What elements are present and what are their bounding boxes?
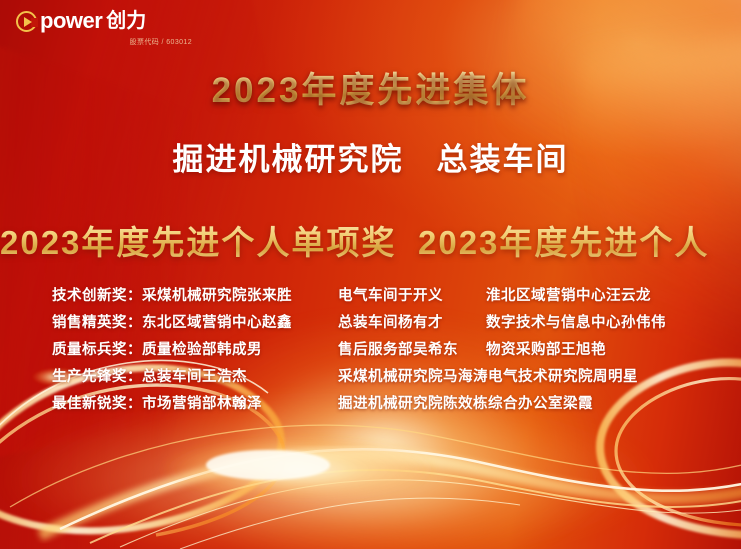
- list-item: 综合办公室梁霞: [488, 391, 741, 418]
- list-item: 采煤机械研究院马海涛: [338, 364, 488, 391]
- list-item: 总装车间杨有才: [338, 310, 486, 337]
- table-row: 电气车间于开义 淮北区域营销中心汪云龙: [338, 283, 741, 310]
- collective-winners: 掘进机械研究院 总装车间: [0, 134, 741, 179]
- page-title: 2023年度先进集体: [0, 62, 741, 113]
- table-row: 采煤机械研究院马海涛 电气技术研究院周明星: [338, 364, 741, 391]
- brand-wordmark-cn: 创力: [106, 11, 146, 31]
- section-heading-individual-award: 2023年度先进个人: [396, 216, 741, 264]
- list-item: 电气技术研究院周明星: [488, 364, 741, 391]
- brand-wordmark: power: [40, 10, 102, 32]
- special-award-list: 技术创新奖：采煤机械研究院张来胜 销售精英奖：东北区域营销中心赵鑫 质量标兵奖：…: [0, 283, 330, 418]
- award-poster: power 创力 股票代码 / 603012 2023年度先进集体 掘进机械研究…: [0, 0, 741, 549]
- list-item: 淮北区域营销中心汪云龙: [486, 283, 741, 310]
- list-item: 掘进机械研究院陈效栋: [338, 391, 488, 418]
- stock-code-label: 股票代码 / 603012: [16, 37, 206, 47]
- brand-logo-row: power 创力: [16, 10, 206, 32]
- table-row: 掘进机械研究院陈效栋 综合办公室梁霞: [338, 391, 741, 418]
- list-item: 物资采购部王旭艳: [486, 337, 741, 364]
- list-item: 生产先锋奖：总装车间王浩杰: [52, 364, 330, 391]
- individual-award-list: 电气车间于开义 淮北区域营销中心汪云龙 总装车间杨有才 数字技术与信息中心孙伟伟…: [330, 283, 741, 418]
- list-item: 数字技术与信息中心孙伟伟: [486, 310, 741, 337]
- list-item: 销售精英奖：东北区域营销中心赵鑫: [52, 310, 330, 337]
- list-item: 技术创新奖：采煤机械研究院张来胜: [52, 283, 330, 310]
- c-power-logo-mark-icon: [16, 11, 37, 32]
- section-heading-special-award: 2023年度先进个人单项奖: [0, 216, 396, 264]
- list-item: 售后服务部吴希东: [338, 337, 486, 364]
- list-item: 电气车间于开义: [338, 283, 486, 310]
- brand-logo: power 创力 股票代码 / 603012: [16, 10, 206, 47]
- table-row: 售后服务部吴希东 物资采购部王旭艳: [338, 337, 741, 364]
- section-headings: 2023年度先进个人单项奖 2023年度先进个人: [0, 216, 741, 264]
- table-row: 总装车间杨有才 数字技术与信息中心孙伟伟: [338, 310, 741, 337]
- award-lists: 技术创新奖：采煤机械研究院张来胜 销售精英奖：东北区域营销中心赵鑫 质量标兵奖：…: [0, 283, 741, 418]
- list-item: 最佳新锐奖：市场营销部林翰泽: [52, 391, 330, 418]
- list-item: 质量标兵奖：质量检验部韩成男: [52, 337, 330, 364]
